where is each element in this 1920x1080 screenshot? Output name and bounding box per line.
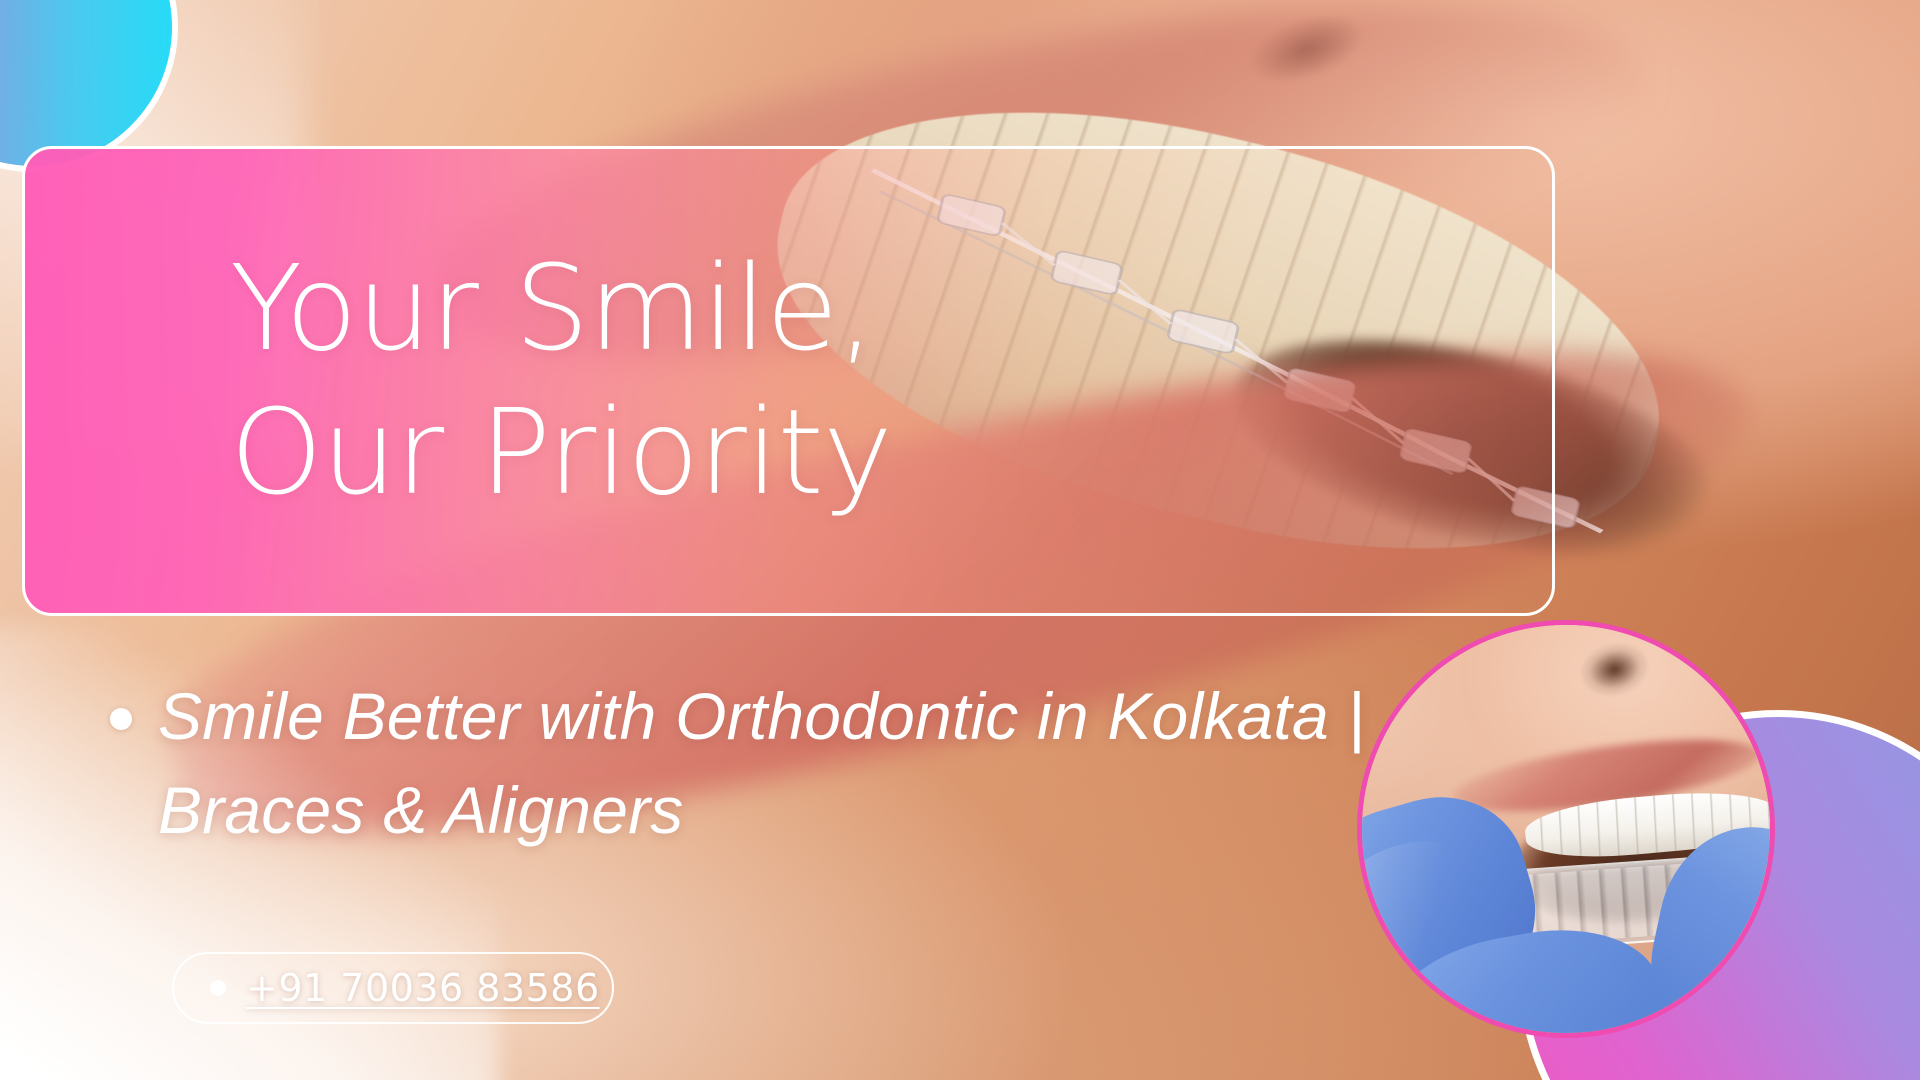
subtitle-block: Smile Better with Orthodontic in Kolkata…: [110, 670, 1370, 857]
banner-canvas: Your Smile, Our Priority Smile Better wi…: [0, 0, 1920, 1080]
phone-cta-button[interactable]: +91 70036 83586: [172, 952, 614, 1024]
bullet-dot-icon: [110, 708, 132, 730]
headline-line-1: Your Smile,: [230, 237, 1552, 381]
phone-number-link[interactable]: +91 70036 83586: [246, 966, 600, 1010]
bullet-dot-icon: [210, 980, 226, 996]
headline-card: Your Smile, Our Priority: [22, 146, 1555, 616]
inset-photo-clear-aligner: [1357, 620, 1775, 1038]
headline-line-2: Our Priority: [230, 381, 1552, 525]
subtitle-text: Smile Better with Orthodontic in Kolkata…: [158, 670, 1370, 857]
